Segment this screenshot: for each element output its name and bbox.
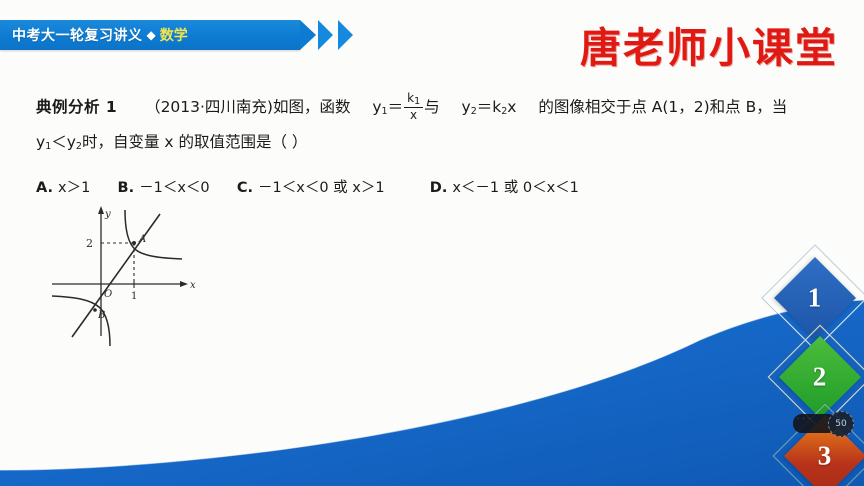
answer-options: A.x＞1 B.－1＜x＜0 C.－1＜x＜0 或 x＞1 D.x＜－1 或 0… — [36, 176, 579, 197]
option-a-text: x＞1 — [58, 180, 90, 196]
x-tick-label-1: 1 — [131, 291, 137, 302]
fraction-numerator: k1 — [404, 92, 423, 108]
y-tick-label-2: 2 — [86, 237, 93, 250]
badge-2-face: 2 — [779, 336, 861, 418]
point-b-label: B — [97, 310, 105, 321]
linear-function-line — [72, 214, 160, 337]
graph-svg: y x O 2 1 A B — [44, 204, 214, 350]
coordinate-graph-figure: y x O 2 1 A B — [44, 204, 214, 350]
x-axis-arrow — [180, 281, 188, 287]
brand-title: 唐老师小课堂 — [580, 14, 838, 74]
badge-3-label: 3 — [818, 441, 832, 472]
x-axis-label: x — [190, 280, 196, 291]
point-a-marker — [132, 241, 136, 245]
formula-equals-1: ＝ — [388, 98, 404, 116]
option-d[interactable]: D.x＜－1 或 0＜x＜1 — [430, 176, 579, 197]
diamond-icon: ◆ — [147, 28, 156, 42]
option-c-text: －1＜x＜0 或 x＞1 — [258, 180, 385, 196]
question-label: 典例分析 1 — [36, 98, 117, 116]
point-b-marker — [93, 308, 97, 312]
option-d-key: D. — [430, 180, 448, 196]
banner-subject: 数学 — [160, 25, 188, 45]
fraction-denominator: x — [407, 108, 420, 121]
option-c-key: C. — [237, 180, 253, 196]
chevron-right-icon-2 — [338, 20, 353, 50]
step-badge-1[interactable]: 1 — [786, 269, 844, 327]
watermark-bottom-left: · · · · · · · — [6, 462, 77, 475]
option-a-key: A. — [36, 180, 53, 196]
option-a[interactable]: A.x＞1 — [36, 176, 90, 197]
option-b[interactable]: B.－1＜x＜0 — [118, 176, 210, 197]
formula-equals-2: ＝k — [477, 98, 501, 116]
chevron-right-icon-1 — [318, 20, 333, 50]
badge-1-face: 1 — [774, 257, 856, 339]
cond-lt: ＜y — [51, 133, 76, 151]
formula-y1: y — [372, 98, 381, 116]
banner-title: 中考大一轮复习讲义 — [12, 25, 143, 45]
point-a-label: A — [138, 234, 146, 245]
badge-1-label: 1 — [808, 283, 822, 314]
option-d-text: x＜－1 或 0＜x＜1 — [452, 180, 579, 196]
option-b-text: －1＜x＜0 — [139, 180, 210, 196]
question-line-1: 典例分析 1 （2013·四川南充)如图，函数 y1＝k1x与 y2＝k2x 的… — [36, 92, 836, 127]
fraction-k1-over-x: k1x — [404, 92, 423, 122]
header-banner: 中考大一轮复习讲义 ◆ 数学 — [0, 20, 300, 50]
formula-x: x — [507, 98, 516, 116]
question-source: （2013·四川南充)如图，函数 — [145, 98, 350, 116]
option-b-key: B. — [118, 180, 135, 196]
banner-arrow-tip — [300, 20, 316, 50]
formula-y2: y — [462, 98, 471, 116]
cond-y1: y — [36, 133, 45, 151]
question-line-2: y1＜y2时，自变量 x 的取值范围是（ ） — [36, 127, 836, 162]
watermark-circle: 50 — [828, 411, 854, 437]
y-axis-label: y — [104, 209, 111, 220]
step-badge-2[interactable]: 2 — [791, 348, 849, 406]
option-c[interactable]: C.－1＜x＜0 或 x＞1 — [237, 176, 385, 197]
formula-conjunction: 与 — [424, 98, 440, 116]
question-tail-1: 的图像相交于点 A(1，2)和点 B，当 — [538, 98, 787, 116]
slide-canvas: 中考大一轮复习讲义 ◆ 数学 唐老师小课堂 典例分析 1 （2013·四川南充)… — [0, 0, 864, 486]
origin-label: O — [104, 289, 112, 300]
badge-2-label: 2 — [813, 362, 827, 393]
question-tail-2: 时，自变量 x 的取值范围是（ ） — [82, 133, 307, 151]
y-axis-arrow — [98, 206, 104, 214]
question-body: 典例分析 1 （2013·四川南充)如图，函数 y1＝k1x与 y2＝k2x 的… — [36, 92, 836, 162]
